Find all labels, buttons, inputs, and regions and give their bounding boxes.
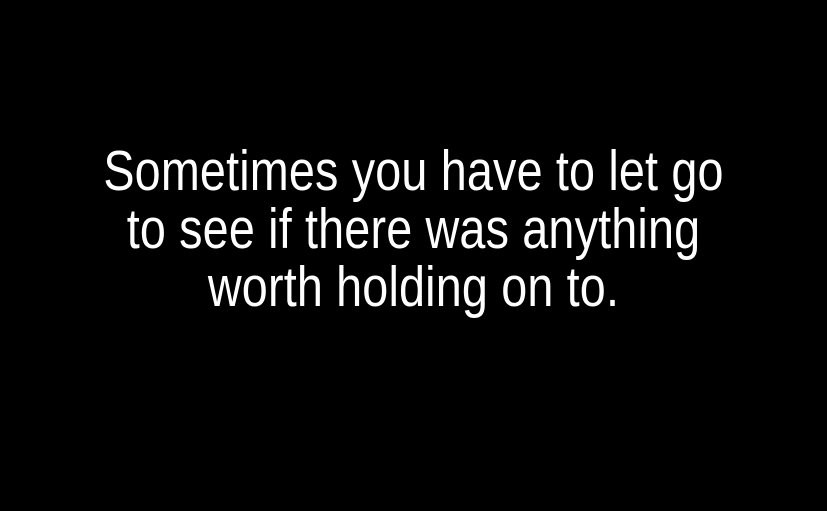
quote-line-2: to see if there was anything — [74, 200, 752, 258]
quote-line-3: worth holding on to. — [74, 258, 752, 316]
quote-line-1: Sometimes you have to let go — [74, 142, 752, 200]
quote-card: Sometimes you have to let go to see if t… — [0, 0, 827, 511]
quote-text-block: Sometimes you have to let go to see if t… — [0, 142, 827, 316]
